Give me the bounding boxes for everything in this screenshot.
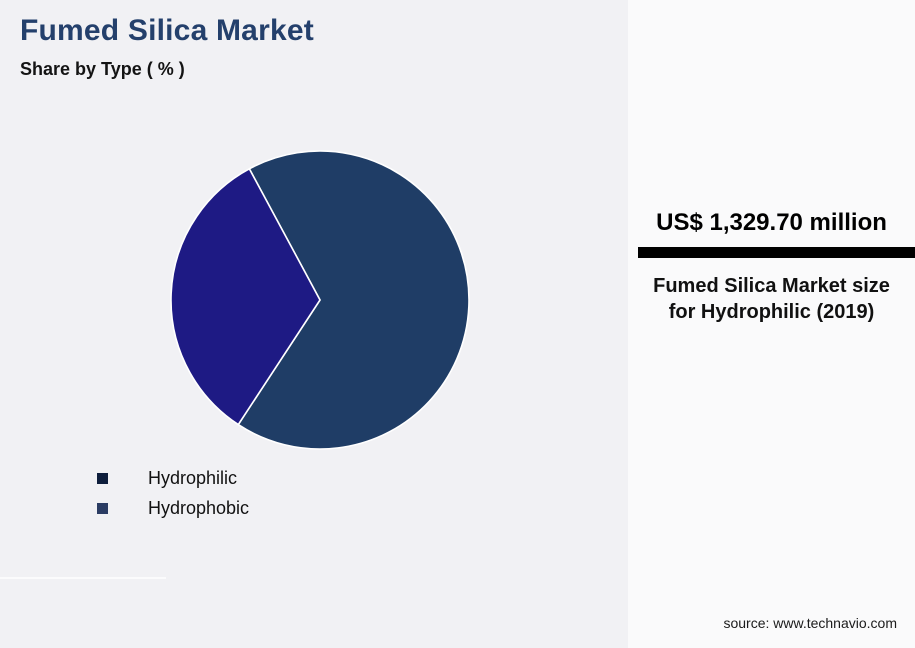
page-title: Fumed Silica Market — [20, 14, 314, 48]
source-note: source: www.technavio.com — [723, 615, 897, 631]
chart-subtitle: Share by Type ( % ) — [20, 59, 185, 80]
chart-legend: Hydrophilic Hydrophobic — [97, 463, 249, 523]
divider — [0, 577, 166, 579]
pie-slice[interactable] — [238, 151, 469, 449]
kpi-panel: US$ 1,329.70 million Fumed Silica Market… — [628, 0, 915, 648]
pie-chart-svg — [0, 0, 622, 648]
kpi-value: US$ 1,329.70 million — [628, 209, 915, 237]
kpi-rule — [638, 247, 915, 258]
pie-slice[interactable] — [171, 169, 320, 425]
chart-panel: Fumed Silica Market Share by Type ( % ) … — [0, 0, 622, 648]
legend-swatch-icon — [97, 503, 108, 514]
legend-item-hydrophobic[interactable]: Hydrophobic — [97, 493, 249, 523]
legend-swatch-icon — [97, 473, 108, 484]
legend-item-label: Hydrophilic — [148, 468, 237, 489]
legend-item-hydrophilic[interactable]: Hydrophilic — [97, 463, 249, 493]
pie-chart — [0, 0, 622, 648]
legend-item-label: Hydrophobic — [148, 498, 249, 519]
kpi-caption: Fumed Silica Market size for Hydrophilic… — [648, 273, 895, 325]
